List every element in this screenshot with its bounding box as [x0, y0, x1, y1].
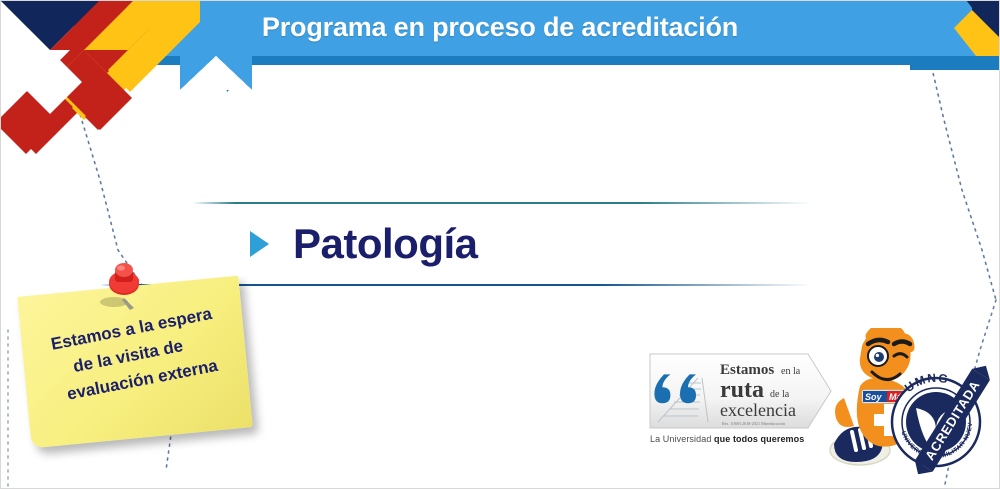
pushpin-icon [100, 258, 146, 314]
heading-text: Patología [293, 220, 478, 268]
corner-decoration-top-left [0, 0, 200, 200]
heading-rule-top [192, 202, 812, 204]
corner-decoration-top-right [910, 0, 1000, 70]
excellence-tagline: La Universidad que todos queremos [650, 434, 830, 444]
excellence-tagline-light: La Universidad [650, 434, 714, 444]
excellence-line1-b: en la [781, 366, 801, 377]
excellence-tagline-bold: que todos queremos [714, 434, 804, 444]
excellence-banner-logo: Estamos en la ruta de la excelencia Res.… [648, 352, 833, 430]
heading-row: Patología [250, 214, 478, 274]
excellence-line1-a: Estamos [720, 362, 774, 378]
accreditation-seal: UMNG UNIVERSIDAD MILITAR NUEVA GRANADA A… [880, 362, 992, 474]
triangle-right-icon [250, 231, 269, 257]
excellence-line3: excelencia [720, 400, 796, 420]
excellence-line2-b: de la [770, 389, 790, 400]
excellence-resolution: Res. 10683 2018-2021 Mineducación [722, 421, 786, 426]
slide-canvas: Programa en proceso de acreditación [0, 0, 1000, 489]
